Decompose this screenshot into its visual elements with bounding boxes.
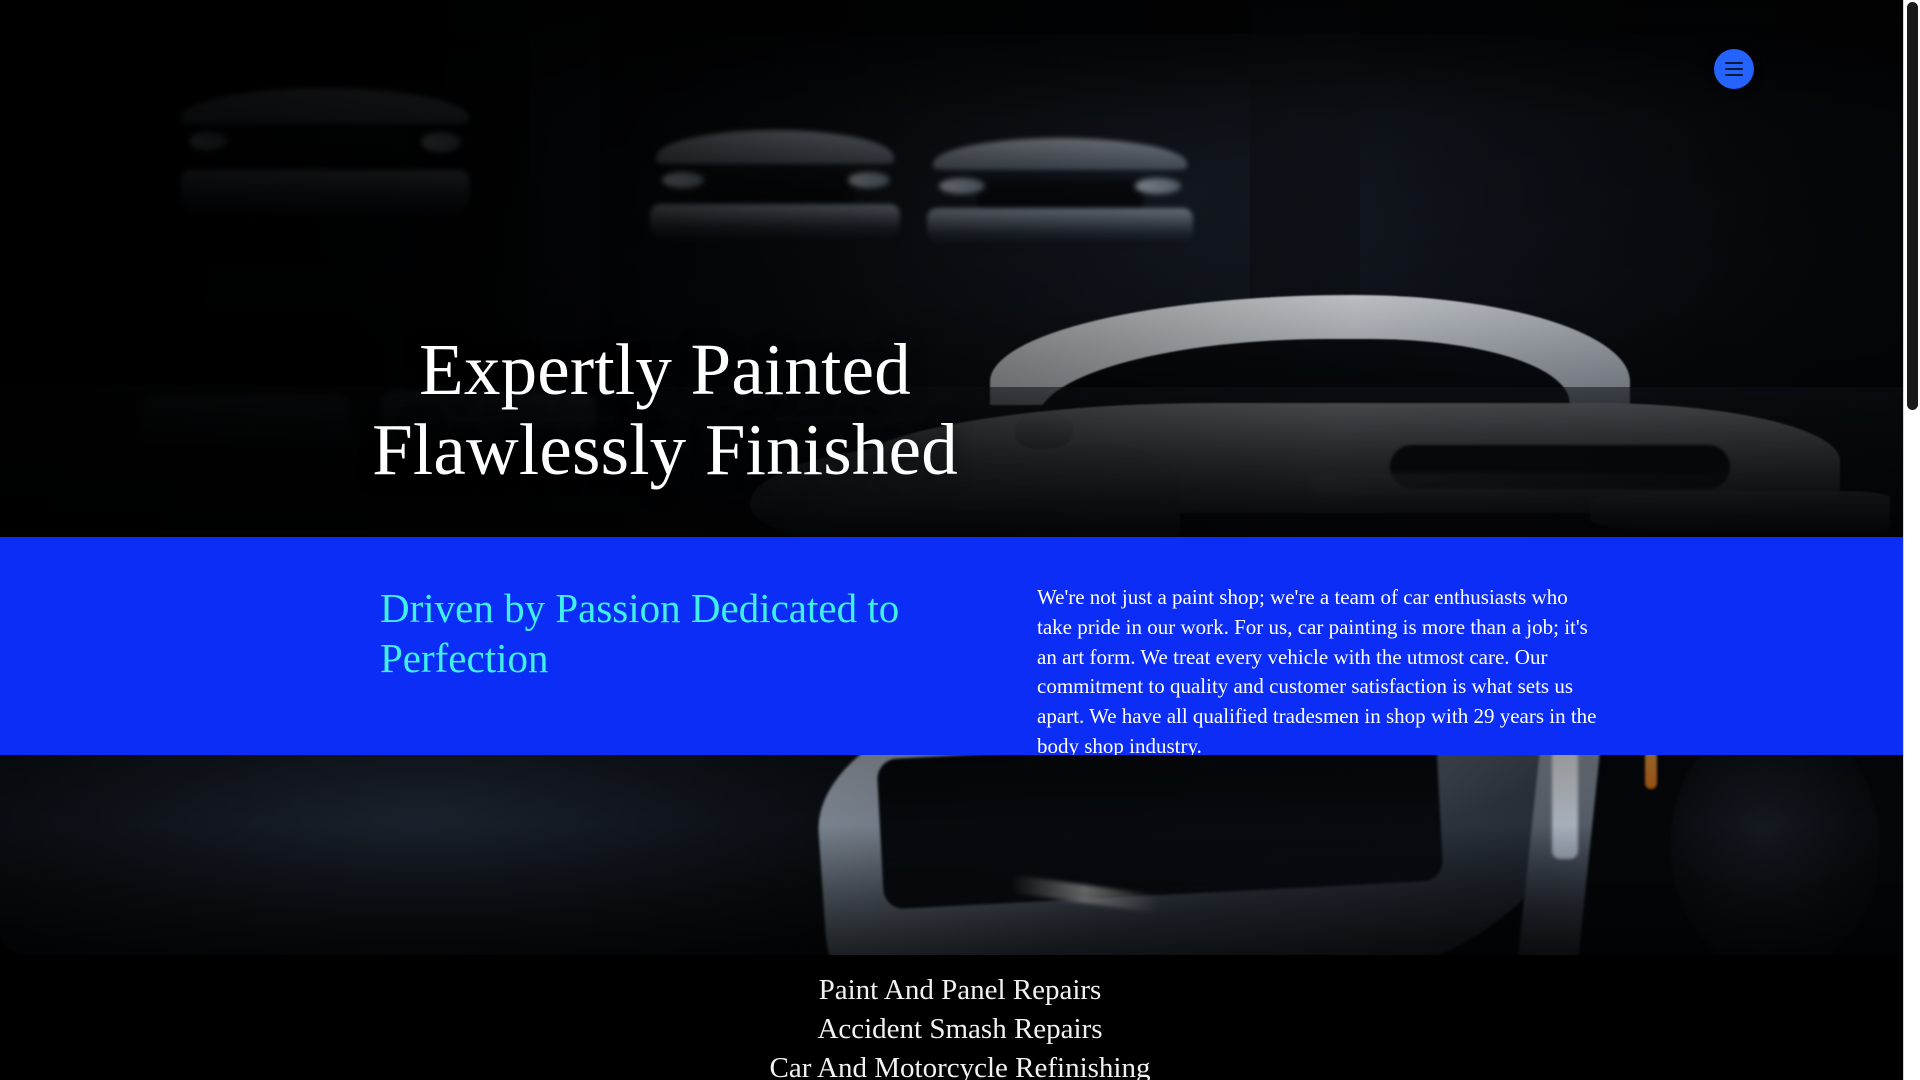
hamburger-menu-button[interactable] bbox=[1714, 49, 1754, 89]
about-paragraph: We're not just a paint shop; we're a tea… bbox=[1037, 583, 1602, 762]
detail-overlay-scrim bbox=[0, 755, 1920, 955]
hamburger-icon-bar-1 bbox=[1725, 62, 1743, 64]
hero-section: Expertly Painted Flawlessly Finished bbox=[0, 0, 1920, 537]
service-item: Accident Smash Repairs bbox=[0, 1010, 1920, 1049]
car-detail-image-section bbox=[0, 755, 1920, 955]
scrollbar-thumb[interactable] bbox=[1907, 2, 1918, 410]
hero-heading-line-2: Flawlessly Finished bbox=[0, 410, 1330, 490]
page-scrollbar[interactable] bbox=[1903, 0, 1920, 1080]
hero-heading: Expertly Painted Flawlessly Finished bbox=[0, 330, 1330, 491]
service-item: Paint And Panel Repairs bbox=[0, 971, 1920, 1010]
page-root: Expertly Painted Flawlessly Finished Dri… bbox=[0, 0, 1920, 1080]
about-heading: Driven by Passion Dedicated to Perfectio… bbox=[380, 583, 1020, 762]
services-section: Paint And Panel Repairs Accident Smash R… bbox=[0, 955, 1920, 1080]
hamburger-icon-bar-3 bbox=[1725, 74, 1743, 76]
hero-heading-line-1: Expertly Painted bbox=[419, 329, 911, 410]
about-section: Driven by Passion Dedicated to Perfectio… bbox=[0, 537, 1920, 755]
service-item: Car And Motorcycle Refinishing bbox=[0, 1049, 1920, 1080]
hamburger-icon-bar-2 bbox=[1725, 68, 1743, 70]
